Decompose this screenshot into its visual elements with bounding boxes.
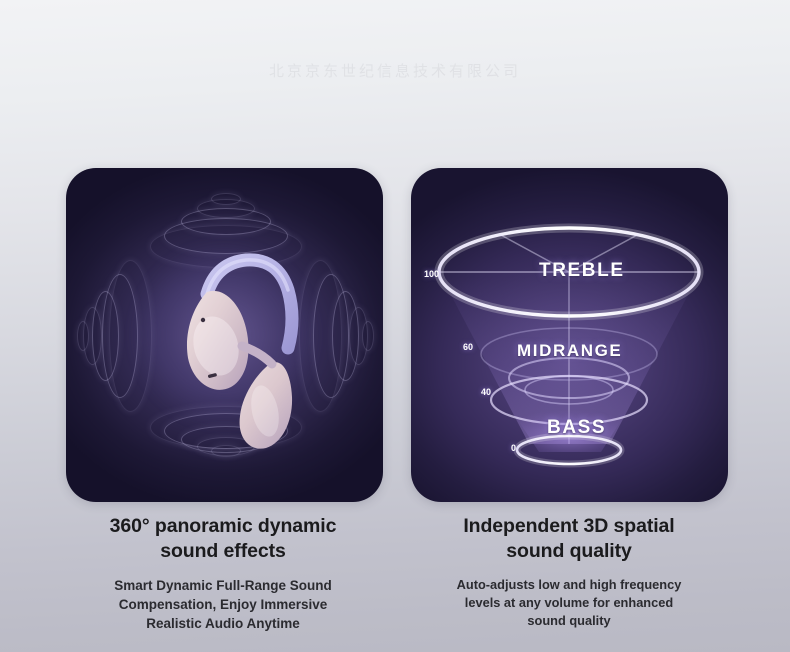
scale-tick-0: 0 [511,443,516,453]
caption-title-line-2: sound effects [58,539,388,564]
caption-spatial-sound: Independent 3D spatial sound quality Aut… [404,514,734,630]
band-label-midrange: MIDRANGE [517,341,622,361]
caption-sub-line-3: sound quality [404,612,734,630]
earbud-illustration [66,168,383,502]
scale-tick-60: 60 [463,342,473,352]
band-label-treble: TREBLE [539,260,625,282]
caption-panoramic-sound: 360° panoramic dynamic sound effects Sma… [58,514,388,633]
caption-title-panoramic: 360° panoramic dynamic sound effects [58,514,388,564]
caption-sub-line-3: Realistic Audio Anytime [58,614,388,633]
equalizer-illustration: TREBLE MIDRANGE BASS 100 60 40 0 [411,168,728,502]
caption-title-line-2: sound quality [404,539,734,564]
feature-card-panoramic-sound[interactable] [66,168,383,502]
caption-title-line-1: Independent 3D spatial [404,514,734,539]
band-label-bass: BASS [547,417,606,439]
caption-sub-line-1: Auto-adjusts low and high frequency [404,576,734,594]
earbud-mic-dot [201,318,205,322]
scale-tick-40: 40 [481,387,491,397]
caption-sub-line-2: Compensation, Enjoy Immersive [58,595,388,614]
equalizer-svg [411,168,728,502]
caption-title-spatial: Independent 3D spatial sound quality [404,514,734,564]
caption-sub-line-2: levels at any volume for enhanced [404,594,734,612]
caption-subtitle-spatial: Auto-adjusts low and high frequency leve… [404,576,734,630]
caption-sub-line-1: Smart Dynamic Full-Range Sound [58,576,388,595]
caption-subtitle-panoramic: Smart Dynamic Full-Range Sound Compensat… [58,576,388,633]
scale-tick-100: 100 [424,269,439,279]
caption-title-line-1: 360° panoramic dynamic [58,514,388,539]
earbud-svg [66,168,383,502]
feature-card-spatial-sound[interactable]: TREBLE MIDRANGE BASS 100 60 40 0 [411,168,728,502]
watermark-text: 北京京东世纪信息技术有限公司 [0,60,790,81]
feature-card-row: TREBLE MIDRANGE BASS 100 60 40 0 [66,168,728,502]
